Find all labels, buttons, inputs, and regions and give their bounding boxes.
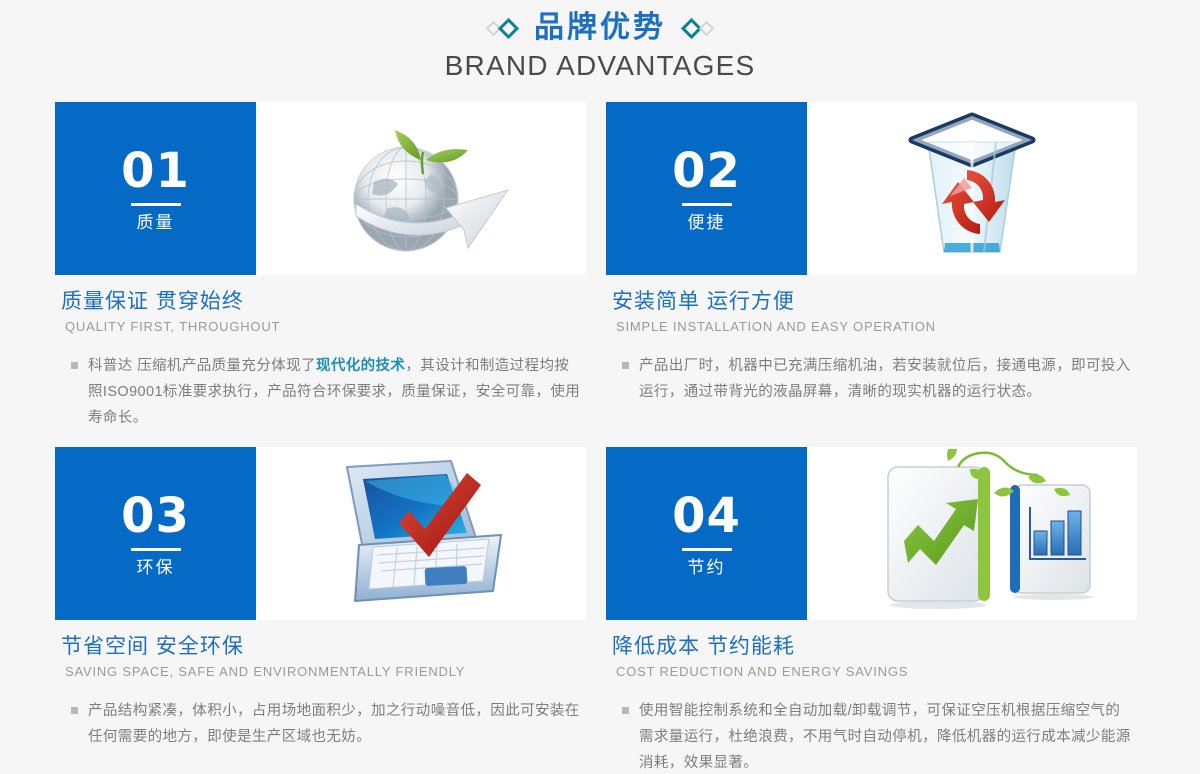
- card-description-text: 科普达 压缩机产品质量充分体现了现代化的技术，其设计和制造过程均按照ISO900…: [88, 353, 584, 431]
- desc-highlight: 现代化的技术: [316, 358, 405, 374]
- page-title-cn: 品牌优势: [534, 9, 666, 47]
- number-badge: 03 环保: [55, 447, 256, 620]
- card-heading-en: SIMPLE INSTALLATION AND EASY OPERATION: [612, 317, 1135, 337]
- number-badge: 02 便捷: [606, 102, 807, 275]
- desc-pre: 使用智能控制系统和全自动加载/卸载调节，可保证空压机根据压缩空气的需求量运行，杜…: [639, 703, 1131, 771]
- divider: [682, 548, 732, 551]
- card-number: 03: [121, 490, 190, 542]
- card-description: 使用智能控制系统和全自动加载/卸载调节，可保证空压机根据压缩空气的需求量运行，杜…: [612, 698, 1135, 774]
- number-badge: 04 节约: [606, 447, 807, 620]
- diamond-outline-teal-icon: [498, 17, 519, 38]
- card-description-text: 产品结构紧凑，体积小，占用场地面积少，加之行动噪音低，因此可安装在任何需要的地方…: [88, 698, 584, 750]
- card-heading-cn: 质量保证 贯穿始终: [61, 289, 584, 315]
- card-keyword: 节约: [688, 558, 726, 578]
- card-heading-cn: 降低成本 节约能耗: [612, 634, 1135, 660]
- card-visual: 01 质量: [55, 102, 586, 275]
- card-description: 产品结构紧凑，体积小，占用场地面积少，加之行动噪音低，因此可安装在任何需要的地方…: [61, 698, 584, 750]
- bullet-square-icon: [71, 362, 78, 369]
- card-body: 节省空间 安全环保 SAVING SPACE, SAFE AND ENVIRON…: [55, 620, 586, 750]
- desc-pre: 科普达 压缩机产品质量充分体现了: [88, 358, 316, 374]
- divider: [131, 203, 181, 206]
- advantage-card-01[interactable]: 01 质量: [55, 102, 586, 431]
- recycle-bin-icon: [807, 102, 1137, 275]
- page-header: 品牌优势 BRAND ADVANTAGES: [0, 0, 1200, 86]
- bullet-square-icon: [71, 707, 78, 714]
- card-heading-en: QUALITY FIRST, THROUGHOUT: [61, 317, 584, 337]
- card-heading-cn: 节省空间 安全环保: [61, 634, 584, 660]
- title-row: 品牌优势: [0, 8, 1200, 48]
- globe-sprout-arrow-icon: [256, 102, 586, 275]
- diamond-decoration-left: [488, 21, 516, 36]
- card-description: 科普达 压缩机产品质量充分体现了现代化的技术，其设计和制造过程均按照ISO900…: [61, 353, 584, 431]
- card-heading-en: COST REDUCTION AND ENERGY SAVINGS: [612, 662, 1135, 682]
- advantage-card-04[interactable]: 04 节约: [606, 447, 1137, 774]
- card-keyword: 环保: [137, 558, 175, 578]
- desc-pre: 产品结构紧凑，体积小，占用场地面积少，加之行动噪音低，因此可安装在任何需要的地方…: [88, 703, 580, 745]
- card-visual: 04 节约: [606, 447, 1137, 620]
- diamond-decoration-right: [684, 21, 712, 36]
- card-visual: 03 环保: [55, 447, 586, 620]
- advantage-card-02[interactable]: 02 便捷: [606, 102, 1137, 431]
- number-badge: 01 质量: [55, 102, 256, 275]
- desc-pre: 产品出厂时，机器中已充满压缩机油，若安装就位后，接通电源，即可投入运行，通过带背…: [639, 358, 1131, 400]
- card-heading-en: SAVING SPACE, SAFE AND ENVIRONMENTALLY F…: [61, 662, 584, 682]
- card-description-text: 使用智能控制系统和全自动加载/卸载调节，可保证空压机根据压缩空气的需求量运行，杜…: [639, 698, 1135, 774]
- bullet-square-icon: [622, 362, 629, 369]
- advantages-grid: 01 质量: [55, 102, 1145, 774]
- bullet-square-icon: [622, 707, 629, 714]
- card-number: 01: [121, 145, 190, 197]
- card-keyword: 便捷: [688, 213, 726, 233]
- card-number: 02: [672, 145, 741, 197]
- card-number: 04: [672, 490, 741, 542]
- advantage-card-03[interactable]: 03 环保: [55, 447, 586, 774]
- laptop-checkmark-icon: [256, 447, 586, 620]
- card-heading-cn: 安装简单 运行方便: [612, 289, 1135, 315]
- divider: [682, 203, 732, 206]
- card-body: 降低成本 节约能耗 COST REDUCTION AND ENERGY SAVI…: [606, 620, 1137, 774]
- card-description-text: 产品出厂时，机器中已充满压缩机油，若安装就位后，接通电源，即可投入运行，通过带背…: [639, 353, 1135, 405]
- page-title-en: BRAND ADVANTAGES: [0, 46, 1200, 86]
- growth-chart-cards-icon: [807, 447, 1137, 620]
- card-keyword: 质量: [137, 213, 175, 233]
- divider: [131, 548, 181, 551]
- card-body: 安装简单 运行方便 SIMPLE INSTALLATION AND EASY O…: [606, 275, 1137, 405]
- card-body: 质量保证 贯穿始终 QUALITY FIRST, THROUGHOUT 科普达 …: [55, 275, 586, 431]
- card-description: 产品出厂时，机器中已充满压缩机油，若安装就位后，接通电源，即可投入运行，通过带背…: [612, 353, 1135, 405]
- diamond-outline-gray-icon: [699, 20, 715, 36]
- card-visual: 02 便捷: [606, 102, 1137, 275]
